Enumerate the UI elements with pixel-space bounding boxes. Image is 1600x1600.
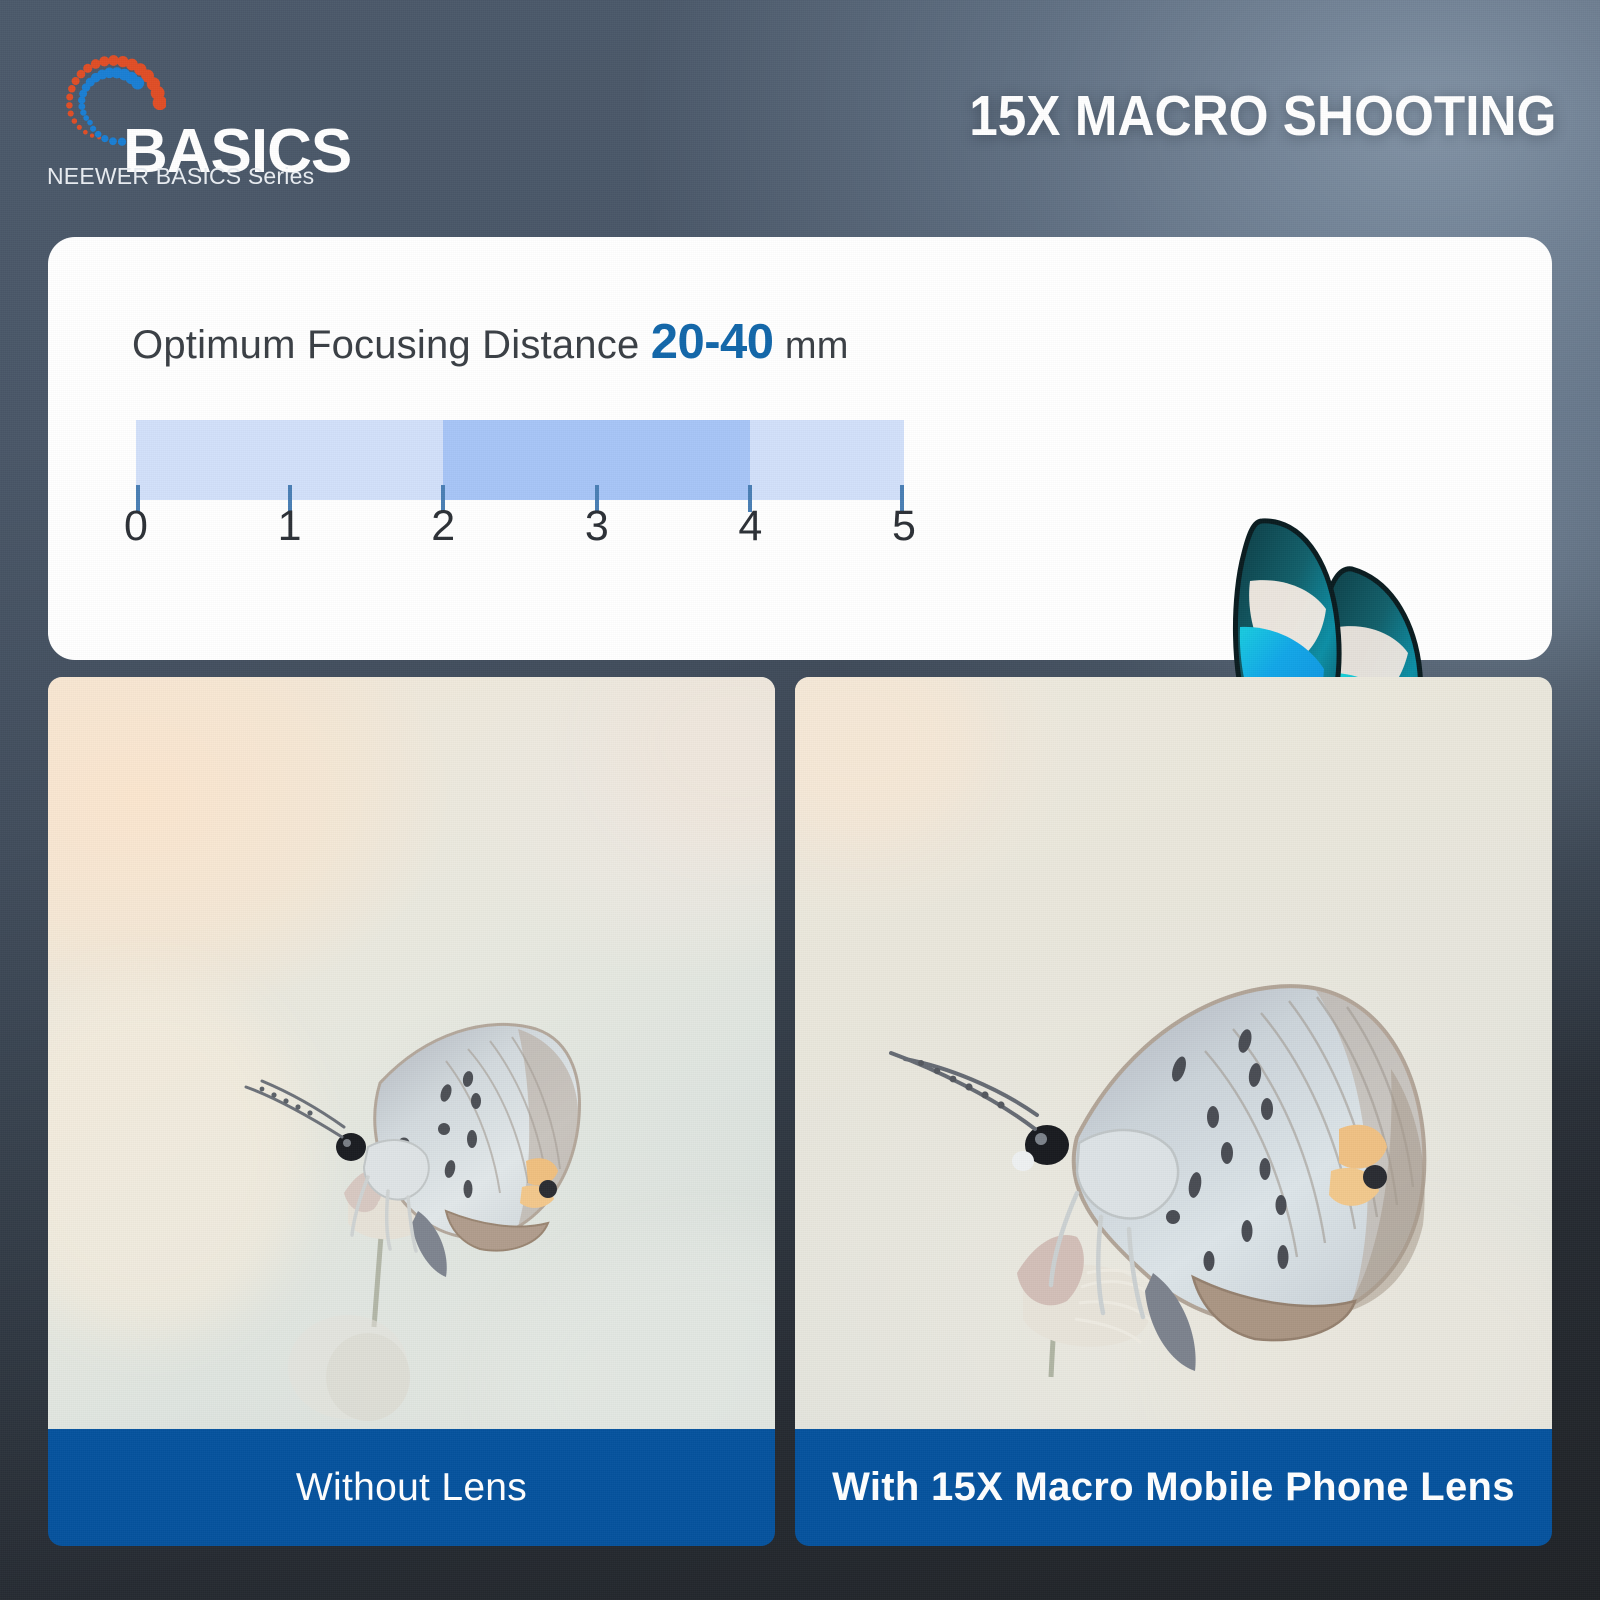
scale-tick-label: 4 (738, 505, 762, 548)
butterfly-photo-subject-magnified (795, 677, 1552, 1429)
focus-distance-line: Optimum Focusing Distance 20-40 mm (132, 314, 849, 370)
focus-distance-value: 20-40 (651, 315, 774, 369)
panel-caption-with-lens: With 15X Macro Mobile Phone Lens (795, 1429, 1552, 1546)
scale-tick-label: 5 (892, 505, 916, 548)
focusing-distance-card: Optimum Focusing Distance 20-40 mm 01234… (48, 237, 1552, 660)
page-title: 15X MACRO SHOOTING (969, 88, 1556, 145)
comparison-panel-with-lens: With 15X Macro Mobile Phone Lens (795, 677, 1552, 1546)
comparison-panel-without-lens: Without Lens (48, 677, 775, 1546)
panel-caption-without-lens: Without Lens (48, 1429, 775, 1546)
photo-with-lens (795, 677, 1552, 1429)
scale-tick-labels: 012345 (136, 505, 904, 561)
focus-distance-label: Optimum Focusing Distance (132, 323, 639, 367)
photo-without-lens (48, 677, 775, 1429)
brand-subtitle: NEEWER BASICS Series (47, 163, 314, 190)
focus-distance-unit: mm (785, 325, 849, 367)
butterfly-photo-subject (48, 677, 775, 1429)
scale-tick-label: 0 (124, 505, 148, 548)
scale-tick-label: 3 (585, 505, 609, 548)
scale-tick-label: 2 (431, 505, 455, 548)
distance-scale-bar (136, 420, 904, 500)
poster-canvas: BASICS NEEWER BASICS Series 15X MACRO SH… (0, 0, 1600, 1600)
scale-tick-label: 1 (278, 505, 302, 548)
